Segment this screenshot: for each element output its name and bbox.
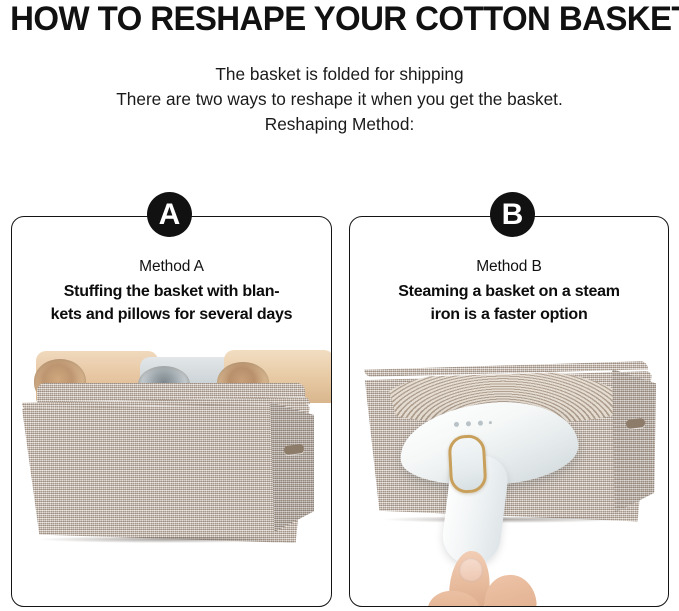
badge-method-a: A bbox=[147, 192, 192, 237]
method-a-image bbox=[12, 335, 332, 607]
method-b-description-line-1: Steaming a basket on a steam bbox=[350, 280, 668, 303]
basket-a-front-wall bbox=[22, 403, 310, 543]
method-b-image bbox=[350, 335, 669, 607]
basket-a-shadow bbox=[40, 537, 292, 543]
steamer-indicator-dot bbox=[478, 421, 483, 426]
panel-method-b: Method B Steaming a basket on a steam ir… bbox=[349, 216, 669, 607]
basket-a-side-wall bbox=[270, 402, 314, 532]
method-panels: A Method A Stuffing the basket with blan… bbox=[0, 0, 679, 611]
finger-knuckle bbox=[482, 572, 539, 607]
infographic-page: HOW TO RESHAPE YOUR COTTON BASKET The ba… bbox=[0, 0, 679, 611]
panel-method-a: Method A Stuffing the basket with blan- … bbox=[11, 216, 332, 607]
basket-b-side-wall bbox=[612, 369, 656, 513]
method-a-description-line-2: kets and pillows for several days bbox=[12, 303, 331, 326]
method-a-name: Method A bbox=[12, 258, 331, 276]
handheld-steamer bbox=[392, 403, 602, 607]
badge-method-b: B bbox=[490, 192, 535, 237]
cotton-basket-filled bbox=[12, 383, 332, 563]
steamer-indicator-dot bbox=[466, 421, 471, 426]
hand-holding-steamer bbox=[420, 551, 575, 607]
method-a-description-line-1: Stuffing the basket with blan- bbox=[12, 280, 331, 303]
thumbnail bbox=[458, 557, 484, 583]
method-b-name: Method B bbox=[350, 258, 668, 276]
steamer-power-button bbox=[448, 434, 488, 494]
method-a-description: Stuffing the basket with blan- kets and … bbox=[12, 280, 331, 326]
steamer-indicator-dot bbox=[489, 421, 492, 424]
method-b-description-line-2: iron is a faster option bbox=[350, 303, 668, 326]
steamer-indicator-dot bbox=[454, 422, 459, 427]
method-b-description: Steaming a basket on a steam iron is a f… bbox=[350, 280, 668, 326]
